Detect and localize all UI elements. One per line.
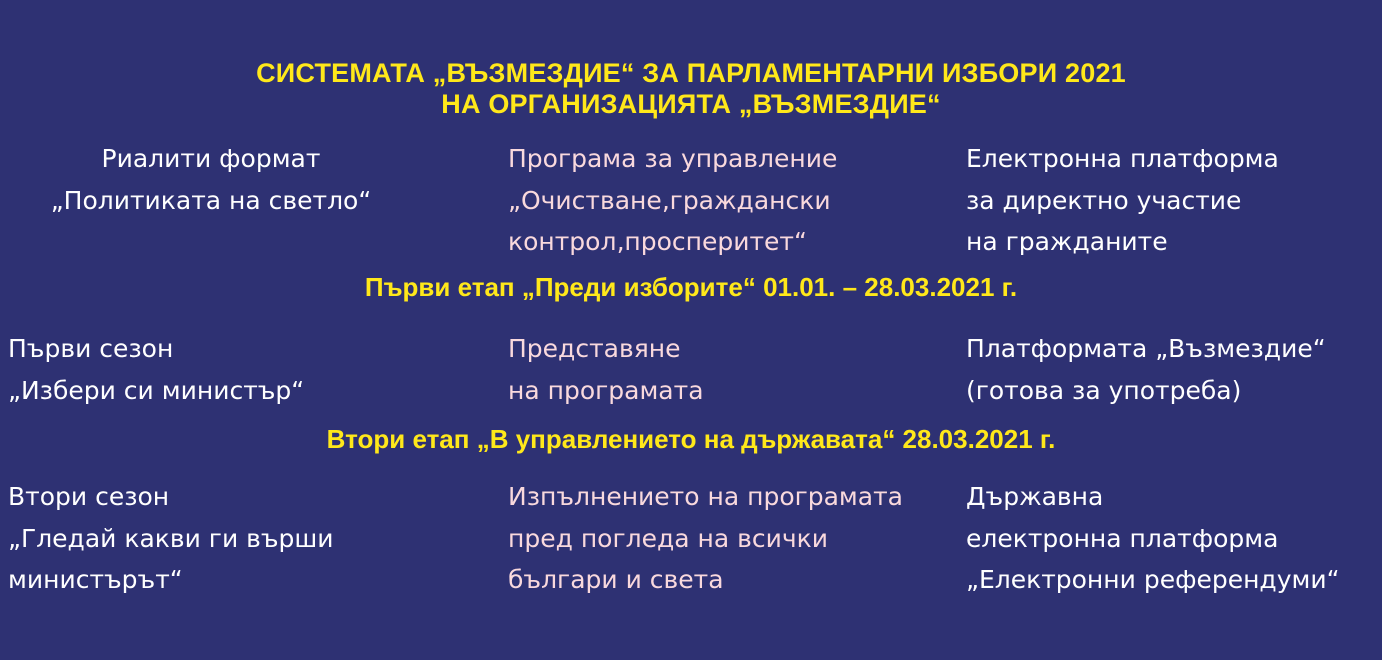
row1-col2-governing-program: Програма за управление „Очистване‚гражда… [492,138,954,263]
stage-1-label: Първи етап „Преди изборите“ 01.01. – 28.… [0,272,1382,303]
content-row-3: Втори сезон „Гледай какви ги върши минис… [0,476,1382,601]
row1-col3-electronic-platform: Електронна платформа за директно участие… [954,138,1382,263]
content-row-1: Риалити формат „Политиката на светло“ Пр… [0,138,1382,263]
row3-col1-second-season: Втори сезон „Гледай какви ги върши минис… [0,476,492,601]
row3-col3-state-platform: Държавна електронна платформа „Електронн… [954,476,1382,601]
row2-col3-platform-ready: Платформата „Възмездие“ (готова за употр… [954,328,1382,411]
slide-canvas: СИСТЕМАТА „ВЪЗМЕЗДИЕ“ ЗА ПАРЛАМЕНТАРНИ И… [0,0,1382,660]
content-row-2: Първи сезон „Избери си министър“ Предста… [0,328,1382,411]
row2-col1-first-season: Първи сезон „Избери си министър“ [0,328,492,411]
row2-col2-program-presentation: Представяне на програмата [492,328,954,411]
title-line-1: СИСТЕМАТА „ВЪЗМЕЗДИЕ“ ЗА ПАРЛАМЕНТАРНИ И… [0,58,1382,89]
row3-col2-program-execution: Изпълнението на програмата пред погледа … [492,476,954,601]
page-title: СИСТЕМАТА „ВЪЗМЕЗДИЕ“ ЗА ПАРЛАМЕНТАРНИ И… [0,58,1382,121]
row1-col1-reality-format: Риалити формат „Политиката на светло“ [0,138,492,221]
stage-2-label: Втори етап „В управлението на държавата“… [0,424,1382,455]
title-line-2: НА ОРГАНИЗАЦИЯТА „ВЪЗМЕЗДИЕ“ [0,89,1382,120]
